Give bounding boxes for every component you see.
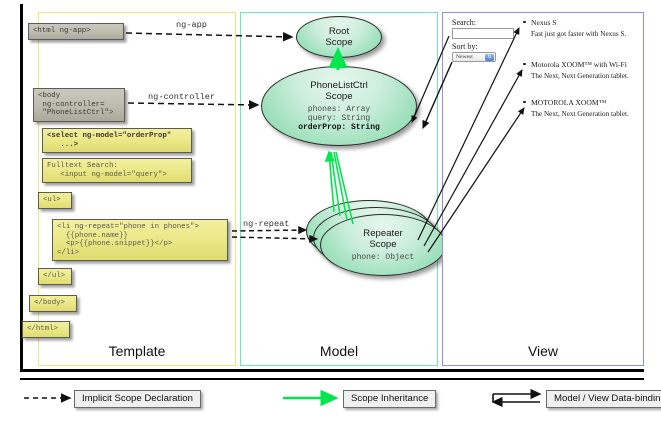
scope-repeater-props: phone: Object: [352, 253, 414, 262]
code-box-html-tag: <html ng-app>: [28, 23, 124, 40]
phone-snippet: The Next, Next Generation tablet.: [531, 110, 629, 118]
scope-phonelistctrl: PhoneListCtrlScope phones: Arrayquery: S…: [261, 66, 417, 146]
chevron-updown-icon: ⇅: [485, 54, 494, 61]
sort-select[interactable]: Newest ⇅: [452, 52, 496, 62]
search-input[interactable]: [452, 28, 514, 39]
phone-name: Nexus S: [531, 18, 557, 27]
scope-repeater-title: RepeaterScope: [363, 228, 402, 250]
code-box-html-close: </html>: [22, 321, 70, 338]
bullet-icon: [523, 63, 526, 66]
legend-item-implicit-scope-declaration: Implicit Scope Declaration: [74, 390, 201, 408]
frame-bottom-rule: [20, 369, 644, 372]
code-box-ul-open: <ul>: [38, 192, 72, 209]
diagram-canvas: Template <html ng-app> <body ng-controll…: [0, 0, 661, 425]
frame-left-rule: [20, 4, 23, 372]
sort-label: Sort by:: [452, 42, 478, 51]
code-box-input-tag: Fulltext Search: <input ng-model="query"…: [42, 158, 192, 183]
scope-root-title: RootScope: [325, 26, 352, 48]
legend-item-scope-inheritance: Scope Inheritance: [343, 390, 436, 408]
code-box-body-tag: <body ng-controller= "PhoneListCtrl">: [33, 88, 125, 122]
scope-repeater: RepeaterScope phone: Object: [320, 214, 446, 276]
bullet-icon: [523, 21, 526, 24]
code-box-ul-close: </ul>: [38, 268, 72, 285]
phone-name: Motorola XOOM™ with Wi-Fi: [531, 60, 627, 69]
phone-snippet: The Next, Next Generation tablet.: [531, 72, 629, 80]
prop-phones: phones: Array: [308, 105, 370, 114]
scope-phonelistctrl-title: PhoneListCtrlScope: [310, 80, 368, 102]
legend-separator: [20, 378, 644, 380]
code-box-select-tag: <select ng-model="orderProp" ...>: [42, 128, 192, 153]
code-box-li-repeat: <li ng-repeat="phone in phones"> {{phone…: [52, 219, 228, 261]
code-box-body-close: </body>: [29, 295, 77, 312]
legend-item-model-view-data-binding: Model / View Data-binding: [546, 390, 661, 408]
panel-label-template: Template: [39, 343, 235, 359]
panel-label-model: Model: [241, 343, 437, 359]
edge-label-ng-controller: ng-controller: [148, 92, 215, 102]
panel-template: Template: [38, 12, 236, 366]
legend-glyph-double: [493, 394, 540, 402]
phone-snippet: Fast just got faster with Nexus S.: [531, 30, 626, 38]
prop-query: query: String: [308, 114, 370, 123]
scope-phonelistctrl-props: phones: Arrayquery: StringorderProp: Str…: [298, 105, 380, 133]
panel-label-view: View: [443, 343, 643, 359]
bullet-icon: [523, 101, 526, 104]
edge-label-ng-app: ng-app: [176, 20, 207, 30]
edge-label-ng-repeat: ng-repeat: [243, 219, 289, 229]
search-label: Search:: [452, 18, 476, 27]
scope-root: RootScope: [296, 16, 382, 58]
sort-select-value: Newest: [456, 54, 473, 60]
prop-orderprop: orderProp: String: [298, 123, 380, 132]
phone-name: MOTOROLA XOOM™: [531, 98, 606, 107]
